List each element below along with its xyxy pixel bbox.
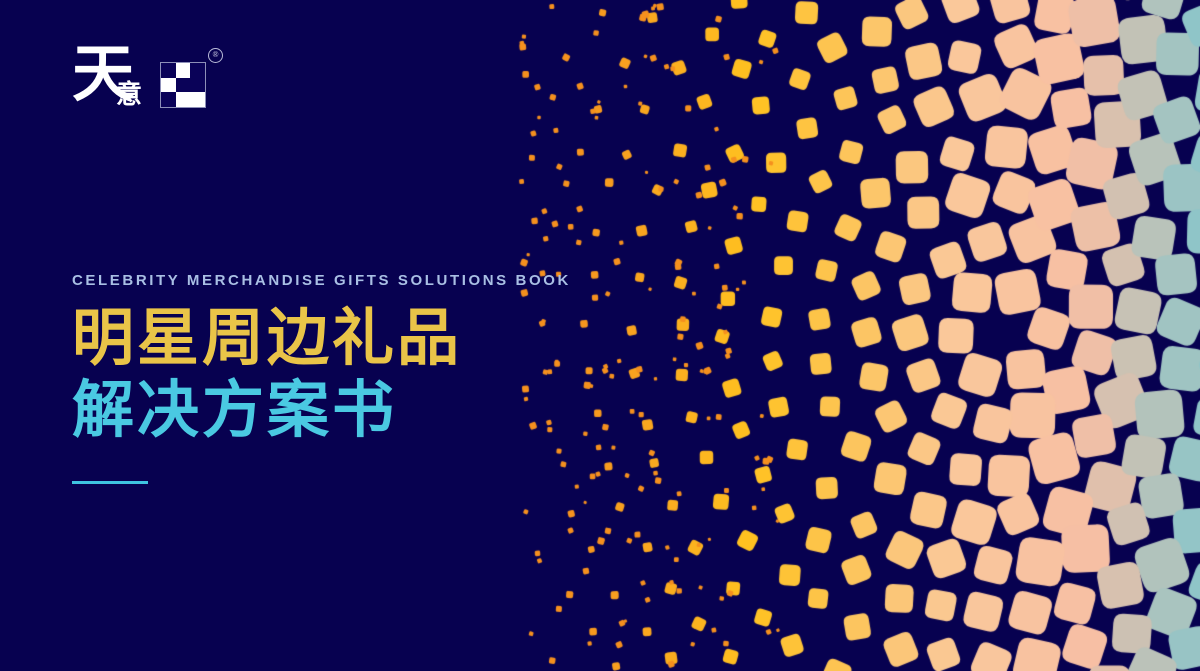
mark-cell [161, 92, 176, 107]
accent-divider [72, 481, 148, 484]
poster-canvas: 天 意 ® CELEBRITY MERCHANDISE GIFTS SOLUTI… [0, 0, 1200, 671]
registered-trademark-icon: ® [208, 48, 223, 63]
mark-cell [176, 78, 191, 93]
mark-cell [176, 92, 191, 107]
mark-cell [190, 63, 205, 78]
mark-cell [190, 92, 205, 107]
headline-group: CELEBRITY MERCHANDISE GIFTS SOLUTIONS BO… [72, 272, 571, 484]
page-title-line-2: 解决方案书 [72, 375, 571, 447]
logo-mark-wrapper: ® [158, 48, 220, 118]
logo-wordmark-sub: 意 [116, 82, 142, 108]
mark-cell [190, 78, 205, 93]
mark-cell [161, 78, 176, 93]
mark-cell [176, 63, 191, 78]
checkerboard-square-mark-icon [160, 62, 206, 108]
mark-cell [161, 63, 176, 78]
page-title-line-1: 明星周边礼品 [72, 303, 571, 375]
tagline-text: CELEBRITY MERCHANDISE GIFTS SOLUTIONS BO… [72, 272, 571, 289]
logo-wordmark: 天 意 [72, 48, 150, 118]
brand-logo[interactable]: 天 意 ® [72, 48, 220, 118]
